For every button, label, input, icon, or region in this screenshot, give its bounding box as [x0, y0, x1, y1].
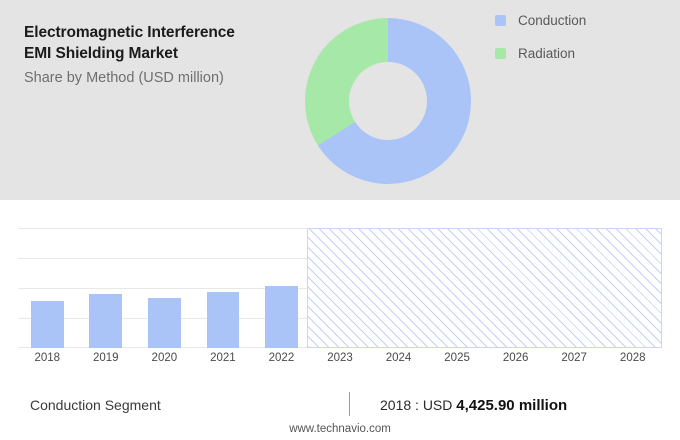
- donut-hole: [349, 62, 427, 140]
- donut-chart: [305, 18, 471, 184]
- forecast-band: [307, 228, 662, 348]
- page-subtitle: Share by Method (USD million): [24, 67, 304, 89]
- legend-item-radiation: Radiation: [495, 46, 586, 61]
- legend-swatch-radiation: [495, 48, 506, 59]
- x-axis-label-2021: 2021: [194, 352, 253, 364]
- footer-segment-label: Conduction Segment: [30, 397, 161, 413]
- page-title-line2: EMI Shielding Market: [24, 43, 304, 64]
- bar-2018: [31, 301, 64, 348]
- page-title-line1: Electromagnetic Interference: [24, 22, 304, 43]
- x-axis-label-2027: 2027: [545, 352, 604, 364]
- legend-label-radiation: Radiation: [518, 46, 575, 61]
- x-axis-label-2022: 2022: [252, 352, 311, 364]
- x-axis-label-2024: 2024: [369, 352, 428, 364]
- bar-chart-panel: 2018201920202021202220232024202520262027…: [0, 200, 680, 390]
- legend-label-conduction: Conduction: [518, 13, 586, 28]
- bar-2022: [265, 286, 298, 348]
- x-axis-label-2026: 2026: [486, 352, 545, 364]
- footer: Conduction Segment 2018 : USD 4,425.90 m…: [0, 390, 680, 440]
- x-axis-label-2028: 2028: [603, 352, 662, 364]
- bar-chart-x-axis: 2018201920202021202220232024202520262027…: [18, 352, 662, 372]
- bar-2020: [148, 298, 181, 348]
- legend-item-conduction: Conduction: [495, 13, 586, 28]
- footer-value: 2018 : USD 4,425.90 million: [380, 397, 567, 414]
- title-block: Electromagnetic Interference EMI Shieldi…: [24, 22, 304, 89]
- x-axis-label-2018: 2018: [18, 352, 77, 364]
- x-axis-label-2020: 2020: [135, 352, 194, 364]
- legend-swatch-conduction: [495, 15, 506, 26]
- x-axis-label-2025: 2025: [428, 352, 487, 364]
- bar-2021: [207, 292, 240, 348]
- bar-chart-plot: [18, 228, 662, 348]
- footer-value-number: 4,425.90 million: [456, 397, 567, 414]
- infographic-root: Electromagnetic Interference EMI Shieldi…: [0, 0, 680, 440]
- footer-url: www.technavio.com: [0, 423, 680, 435]
- header-panel: Electromagnetic Interference EMI Shieldi…: [0, 0, 680, 200]
- footer-value-prefix: 2018 : USD: [380, 397, 456, 413]
- chart-legend: Conduction Radiation: [495, 13, 586, 79]
- footer-divider: [349, 392, 350, 416]
- x-axis-label-2023: 2023: [311, 352, 370, 364]
- x-axis-label-2019: 2019: [77, 352, 136, 364]
- bar-2019: [89, 294, 122, 348]
